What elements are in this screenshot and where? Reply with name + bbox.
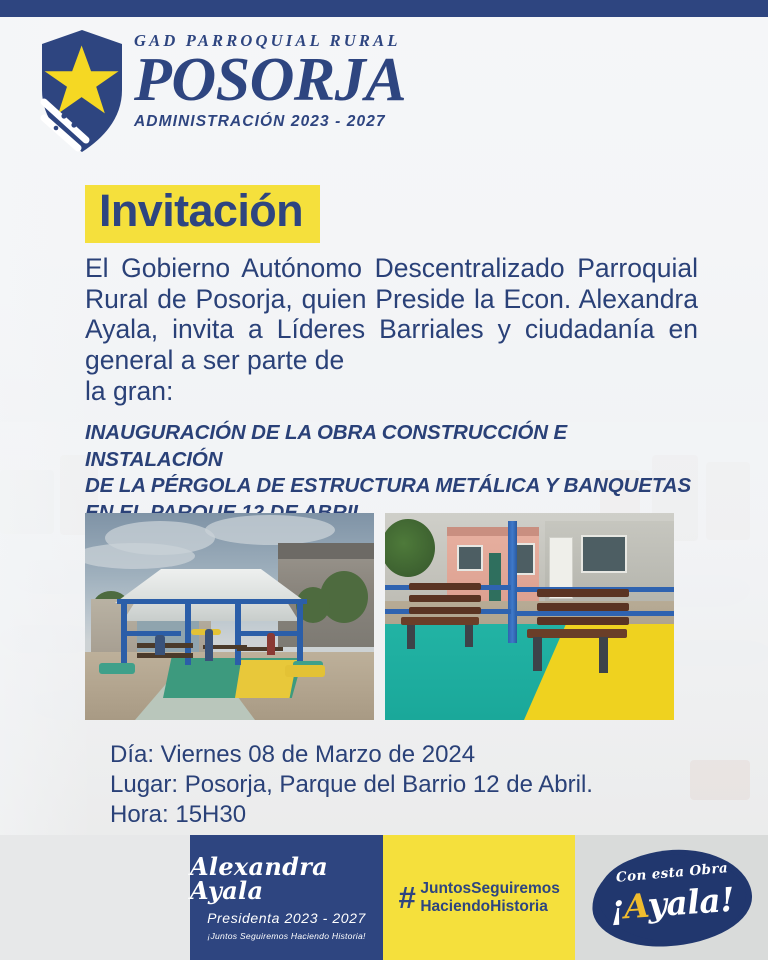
footer-logo-panel: Con esta Obra ¡Ayala! xyxy=(575,835,768,960)
invitation-body-line-1: El Gobierno Autónomo Descentralizado Par… xyxy=(85,253,698,376)
poster-header: GAD PARROQUIAL RURAL POSORJA ADMINISTRAC… xyxy=(0,17,768,172)
hashtag-symbol-icon: # xyxy=(398,882,415,913)
top-accent-bar xyxy=(0,0,768,17)
brand-line-main: POSORJA xyxy=(134,52,406,110)
event-headline-line-1: INAUGURACIÓN DE LA OBRA CONSTRUCCIÓN E I… xyxy=(85,420,700,473)
brand-line-sub: ADMINISTRACIÓN 2023 - 2027 xyxy=(134,113,406,131)
hashtag-text: JuntosSeguiremos HaciendoHistoria xyxy=(420,880,560,915)
invitation-title-badge: Invitación xyxy=(85,185,320,243)
page-title: Invitación xyxy=(99,187,303,236)
posorja-shield-logo xyxy=(30,28,134,156)
footer-signature-panel: Alexandra Ayala Presidenta 2023 - 2027 ¡… xyxy=(190,835,383,960)
poster-footer: Alexandra Ayala Presidenta 2023 - 2027 ¡… xyxy=(0,835,768,960)
invitation-poster: GAD PARROQUIAL RURAL POSORJA ADMINISTRAC… xyxy=(0,0,768,960)
event-headline: INAUGURACIÓN DE LA OBRA CONSTRUCCIÓN E I… xyxy=(85,420,700,527)
photo-gallery xyxy=(85,513,685,720)
footer-spacer-left xyxy=(0,835,190,960)
invitation-body: El Gobierno Autónomo Descentralizado Par… xyxy=(85,253,698,407)
event-details: Día: Viernes 08 de Marzo de 2024 Lugar: … xyxy=(110,740,593,831)
signature-role: Presidenta 2023 - 2027 xyxy=(207,910,366,926)
photo-banquetas xyxy=(385,513,674,720)
signature-name: Alexandra Ayala xyxy=(190,855,383,903)
signature-slogan: ¡Juntos Seguiremos Haciendo Historia! xyxy=(207,931,365,941)
hashtag-line-1: JuntosSeguiremos xyxy=(420,880,560,897)
event-time: Hora: 15H30 xyxy=(110,800,593,830)
ayala-logo-highlight: A xyxy=(622,885,648,926)
ayala-logo-rest: yala! xyxy=(646,879,735,924)
event-headline-line-2: DE LA PÉRGOLA DE ESTRUCTURA METÁLICA Y B… xyxy=(85,473,700,500)
invitation-body-line-2: la gran: xyxy=(85,376,698,407)
footer-hashtag-panel: # JuntosSeguiremos HaciendoHistoria xyxy=(383,835,575,960)
event-place: Lugar: Posorja, Parque del Barrio 12 de … xyxy=(110,770,593,800)
event-day: Día: Viernes 08 de Marzo de 2024 xyxy=(110,740,593,770)
hashtag-line-2: HaciendoHistoria xyxy=(420,898,547,915)
brand-lockup: GAD PARROQUIAL RURAL POSORJA ADMINISTRAC… xyxy=(134,31,406,131)
photo-pergola xyxy=(85,513,374,720)
ayala-campaign-logo: Con esta Obra ¡Ayala! xyxy=(592,850,752,946)
